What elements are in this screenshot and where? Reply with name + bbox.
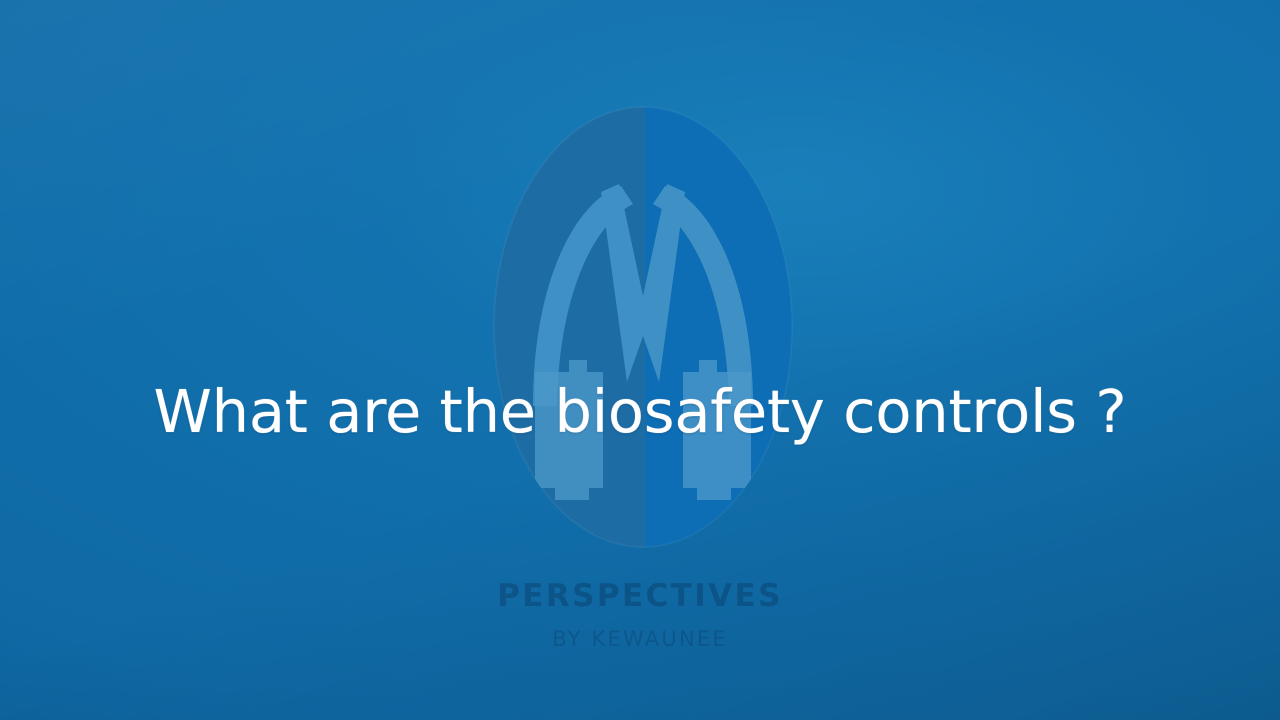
background-vignette — [0, 0, 1280, 720]
background-gradient-glow — [0, 0, 1280, 720]
kewaunee-logo-watermark — [493, 106, 793, 548]
brand-name-primary: PERSPECTIVES — [0, 581, 1280, 612]
brand-lockup: PERSPECTIVES BY KEWAUNEE — [0, 581, 1280, 650]
title-slide: What are the biosafety controls ? PERSPE… — [0, 0, 1280, 720]
slide-title: What are the biosafety controls ? — [0, 379, 1280, 445]
brand-name-secondary: BY KEWAUNEE — [0, 629, 1280, 650]
